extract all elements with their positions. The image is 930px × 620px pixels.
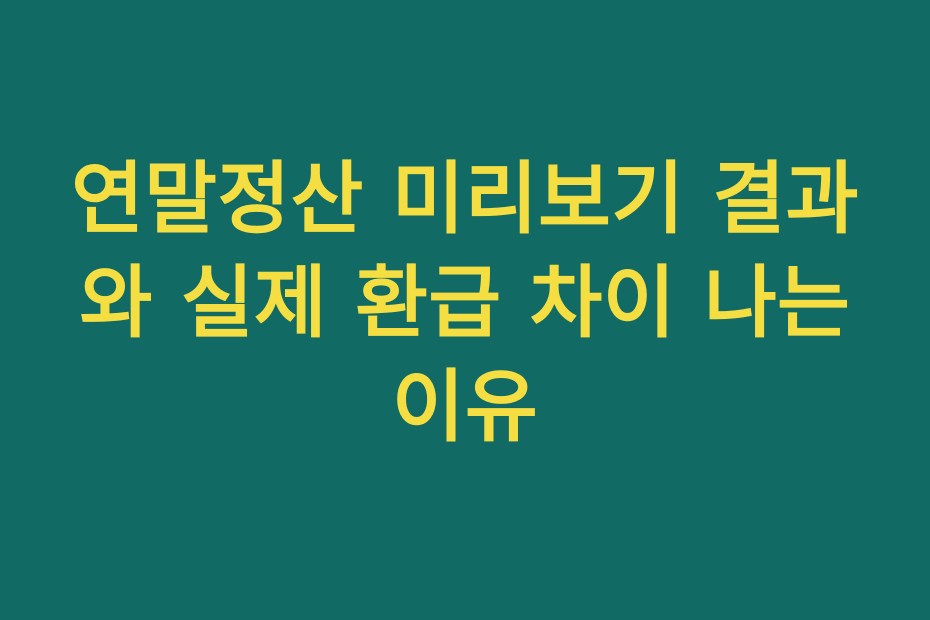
- title-line-1: 연말정산 미리보기 결과: [71, 147, 859, 251]
- title-line-2: 와 실제 환급 차이 나는: [80, 251, 851, 355]
- title-line-3: 이유: [392, 355, 538, 459]
- title-text-block: 연말정산 미리보기 결과 와 실제 환급 차이 나는 이유: [55, 147, 875, 459]
- title-card: 연말정산 미리보기 결과 와 실제 환급 차이 나는 이유: [0, 0, 930, 620]
